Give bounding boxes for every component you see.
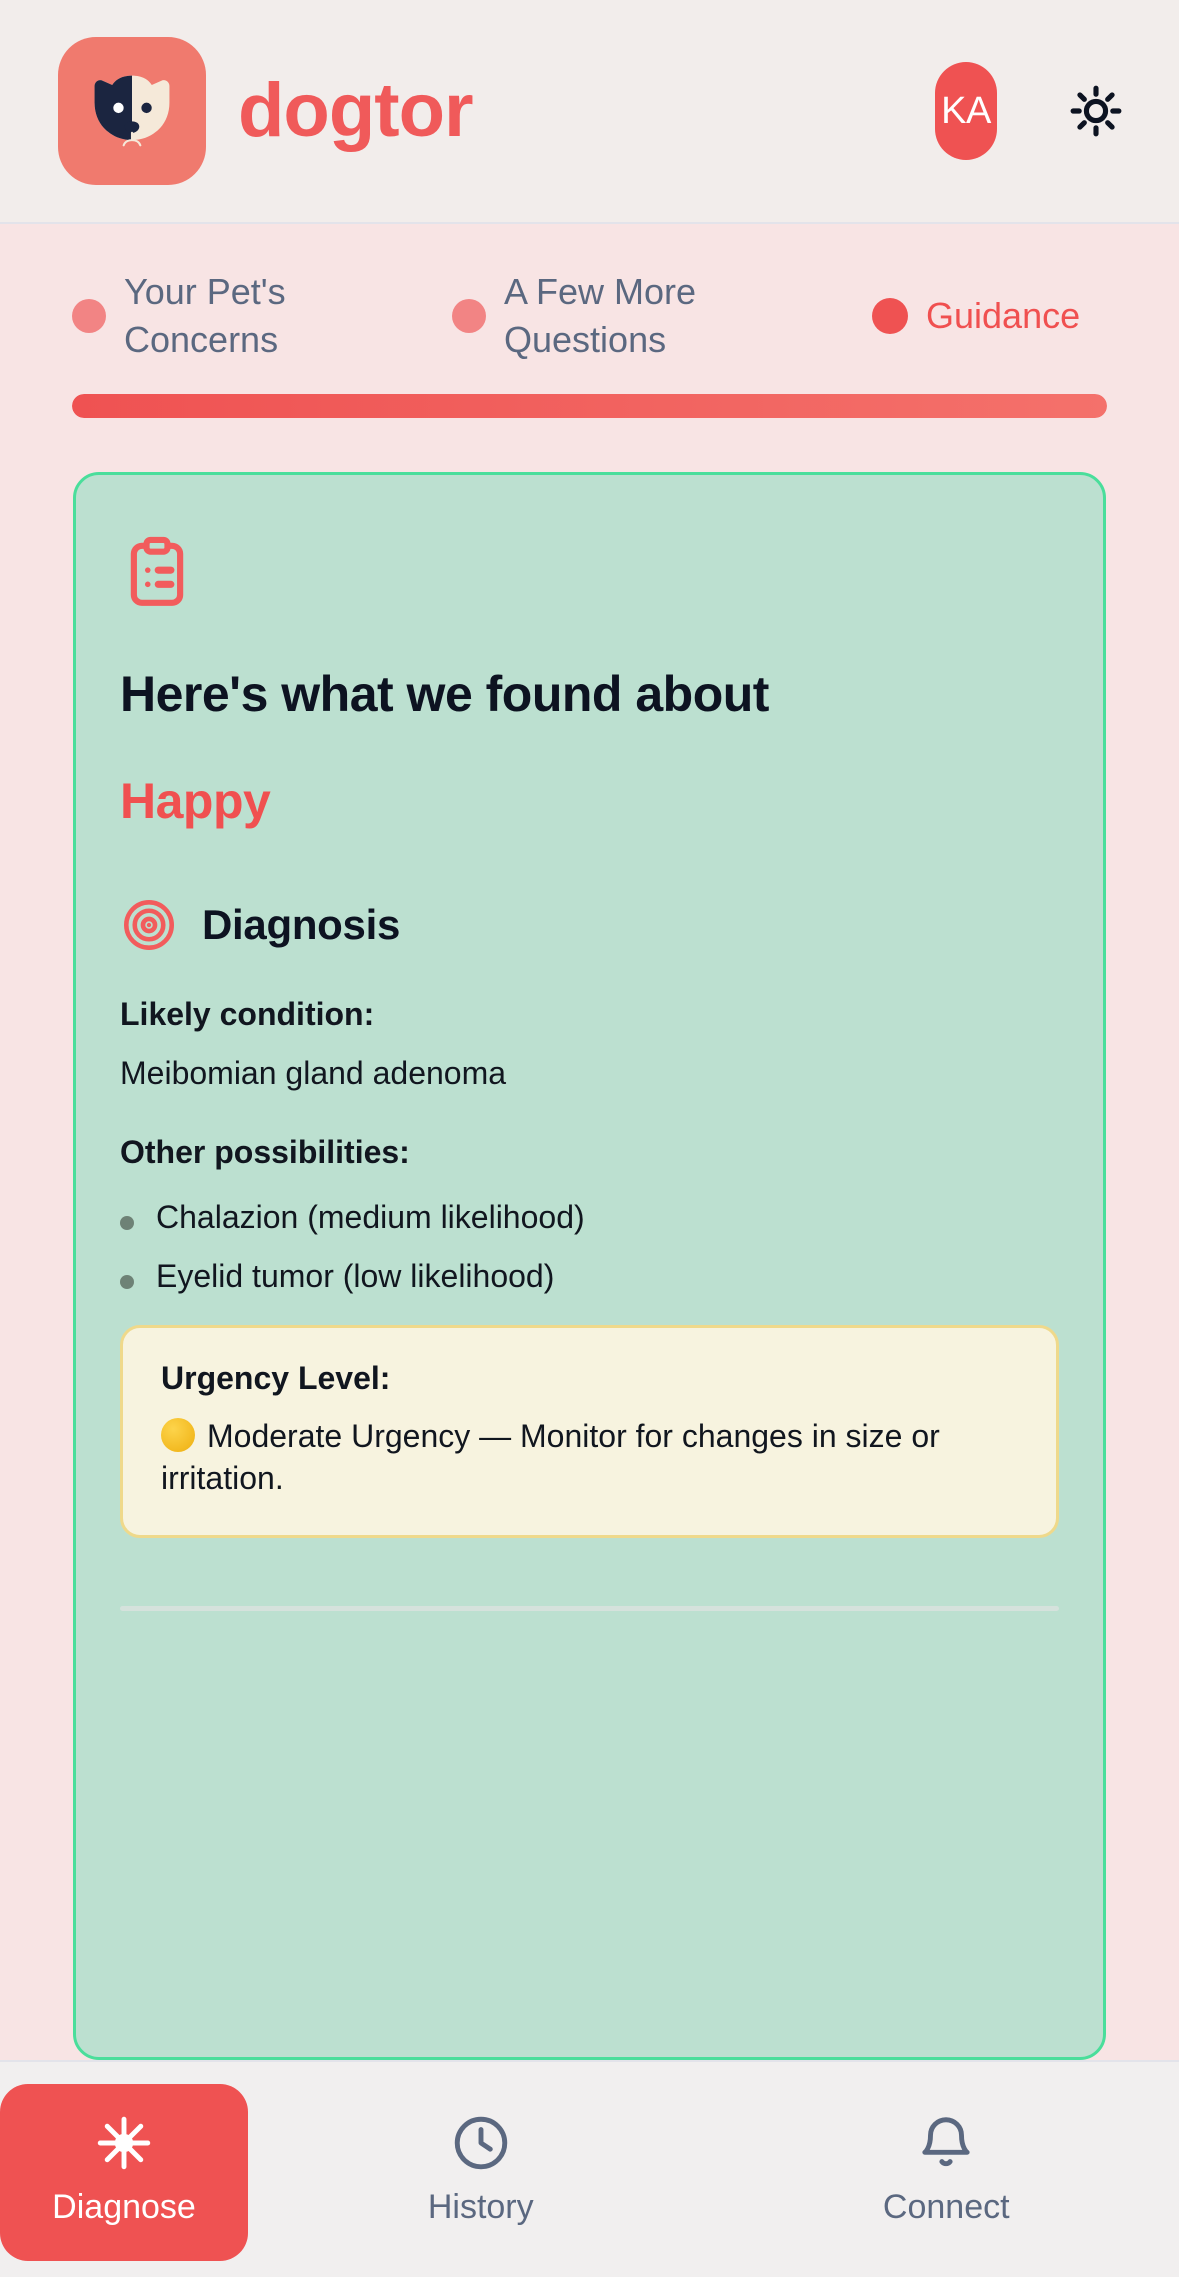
target-icon <box>120 896 178 954</box>
progress-step-your-pets-concerns[interactable]: Your Pet's Concerns <box>72 268 452 363</box>
app-root: dogtor KA Your Pet's Concerns <box>0 0 1179 2277</box>
progress-step-label: Your Pet's Concerns <box>124 268 374 363</box>
avatar[interactable]: KA <box>935 62 997 160</box>
urgency-moderate-dot-icon <box>161 1418 195 1452</box>
urgency-callout: Urgency Level: Moderate Urgency — Monito… <box>120 1325 1059 1538</box>
app-header: dogtor KA <box>0 0 1179 224</box>
likely-condition-value: Meibomian gland adenoma <box>120 1055 1059 1092</box>
bullet-dot-icon <box>120 1275 134 1289</box>
page-title: Here's what we found about <box>120 665 1059 724</box>
list-item: Eyelid tumor (low likelihood) <box>120 1258 1059 1295</box>
diagnosis-heading: Diagnosis <box>202 901 400 949</box>
likely-condition-label: Likely condition: <box>120 996 1059 1033</box>
sun-icon <box>1068 83 1124 139</box>
clock-icon <box>450 2112 512 2174</box>
bottom-navigation: Diagnose History Connect <box>0 2060 1179 2277</box>
step-dot-icon <box>872 298 908 334</box>
theme-toggle-button[interactable] <box>1061 76 1131 146</box>
nav-item-history[interactable]: History <box>248 2084 714 2261</box>
other-possibilities-list: Chalazion (medium likelihood) Eyelid tum… <box>120 1199 1059 1295</box>
diagnosis-section-header: Diagnosis <box>120 896 1059 954</box>
step-dot-icon <box>72 299 106 333</box>
list-item-label: Eyelid tumor (low likelihood) <box>156 1258 554 1295</box>
nav-item-connect[interactable]: Connect <box>714 2084 1179 2261</box>
progress-step-guidance[interactable]: Guidance <box>872 292 1080 340</box>
pet-name: Happy <box>120 772 1059 830</box>
progress-bar <box>72 394 1107 418</box>
nav-item-label: History <box>428 2188 534 2227</box>
clipboard-list-icon <box>120 535 1059 609</box>
progress-step-a-few-more-questions[interactable]: A Few More Questions <box>452 268 872 363</box>
urgency-text: Moderate Urgency — Monitor for changes i… <box>161 1418 940 1496</box>
urgency-text-row: Moderate Urgency — Monitor for changes i… <box>161 1415 1018 1499</box>
nav-item-label: Connect <box>883 2188 1010 2227</box>
dog-face-icon <box>58 37 206 185</box>
step-dot-icon <box>452 299 486 333</box>
nav-item-diagnose[interactable]: Diagnose <box>0 2084 248 2261</box>
bell-icon <box>915 2112 977 2174</box>
brand[interactable]: dogtor <box>58 37 473 185</box>
brand-name: dogtor <box>238 73 473 149</box>
header-actions: KA <box>935 62 1131 160</box>
list-item: Chalazion (medium likelihood) <box>120 1199 1059 1236</box>
progress-step-label: Guidance <box>926 292 1080 340</box>
progress-steps: Your Pet's Concerns A Few More Questions… <box>72 250 1107 382</box>
progress-step-label: A Few More Questions <box>504 268 754 363</box>
sparkle-icon <box>93 2112 155 2174</box>
urgency-label: Urgency Level: <box>161 1360 1018 1397</box>
main-content: Here's what we found about Happy Diagnos… <box>0 472 1179 2060</box>
bullet-dot-icon <box>120 1216 134 1230</box>
nav-item-label: Diagnose <box>52 2188 196 2227</box>
progress-bar-fill <box>72 394 1107 418</box>
list-item-label: Chalazion (medium likelihood) <box>156 1199 585 1236</box>
result-card: Here's what we found about Happy Diagnos… <box>73 472 1106 2060</box>
other-possibilities-label: Other possibilities: <box>120 1134 1059 1171</box>
card-divider <box>120 1606 1059 1611</box>
progress-section: Your Pet's Concerns A Few More Questions… <box>0 224 1179 472</box>
